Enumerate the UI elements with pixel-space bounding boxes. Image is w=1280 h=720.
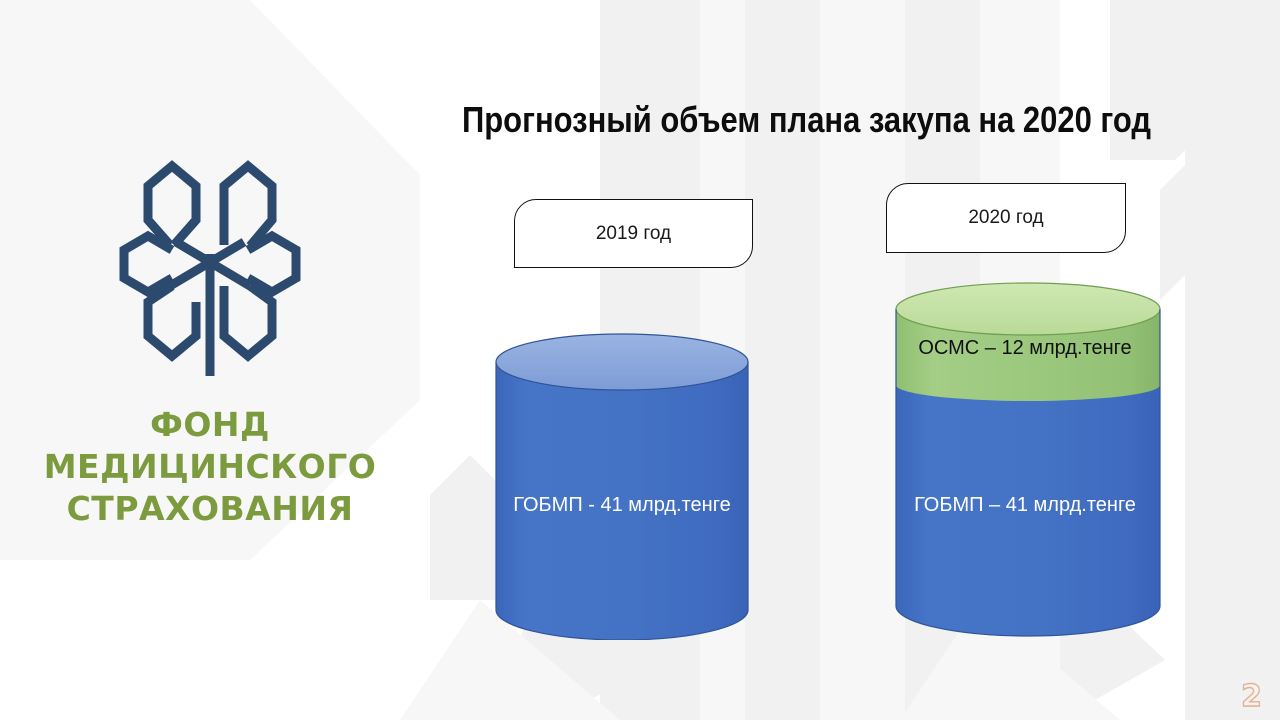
cylinder-2020[interactable] — [894, 281, 1162, 638]
callout-label-2020: 2020 год — [968, 207, 1043, 229]
logo-wordmark-line-2: МЕДИЦИНСКОГО — [0, 446, 420, 488]
logo-wordmark: ФОНД МЕДИЦИНСКОГО СТРАХОВАНИЯ — [0, 404, 420, 531]
snowflake-hexagon-logo-icon — [110, 150, 310, 390]
callout-box-2020[interactable]: 2020 год — [886, 183, 1126, 253]
callout-label-2019: 2019 год — [596, 223, 671, 245]
logo-wordmark-line-1: ФОНД — [0, 404, 420, 446]
cylinder-2019[interactable] — [494, 332, 750, 640]
organization-logo: ФОНД МЕДИЦИНСКОГО СТРАХОВАНИЯ — [0, 150, 420, 531]
logo-wordmark-line-3: СТРАХОВАНИЯ — [0, 488, 420, 530]
callout-box-2019[interactable]: 2019 год — [514, 199, 753, 268]
slide-canvas: ФОНД МЕДИЦИНСКОГО СТРАХОВАНИЯ Прогнозный… — [0, 0, 1280, 720]
page-number: 2 — [1241, 679, 1262, 714]
slide-title: Прогнозный объем плана закупа на 2020 го… — [462, 100, 1141, 140]
